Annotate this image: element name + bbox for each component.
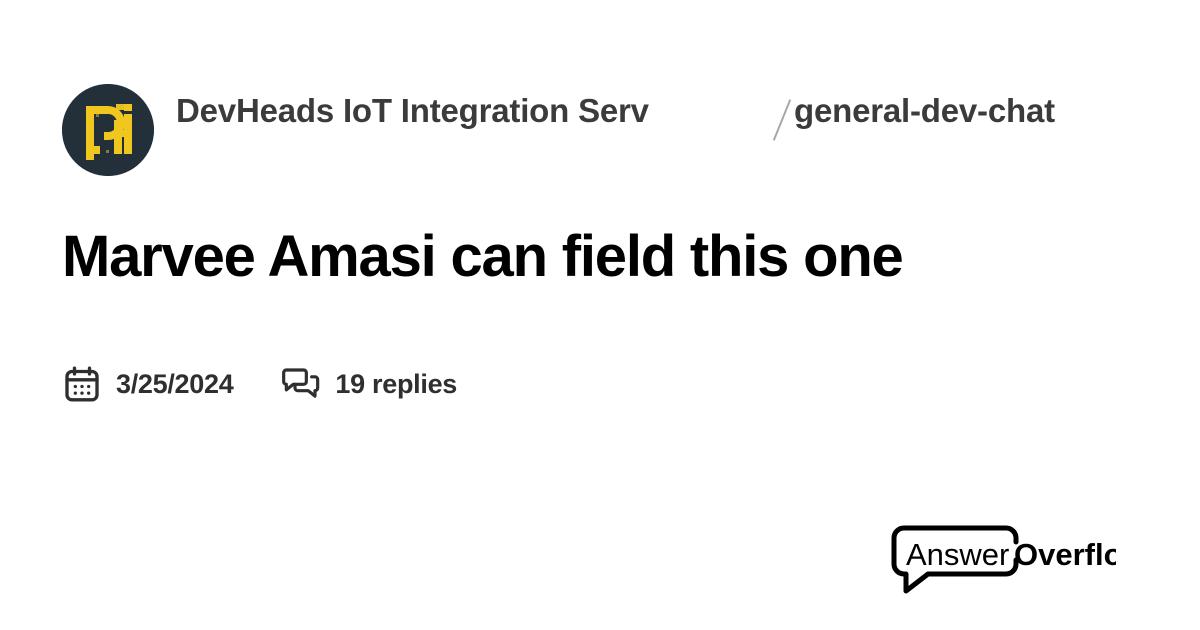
brand-word-answer: Answer: [906, 537, 1009, 572]
devheads-dh-monogram-icon: [62, 84, 154, 176]
thread-title: Marvee Amasi can field this one: [62, 222, 1142, 292]
card-header: DevHeads IoT Integration Serv general-de…: [62, 82, 1142, 176]
server-avatar[interactable]: [62, 84, 154, 176]
calendar-icon: [62, 364, 102, 404]
answer-overflow-brand[interactable]: Answer Overflow: [890, 524, 1116, 598]
thread-meta: 3/25/2024 19 replies: [62, 364, 457, 404]
message-replies-icon: [281, 364, 321, 404]
server-block[interactable]: DevHeads IoT Integration Serv: [62, 82, 772, 176]
channel-name: general-dev-chat: [794, 90, 1055, 132]
brand-word-overflow: Overflow: [1014, 537, 1116, 572]
date-value: 3/25/2024: [116, 369, 233, 400]
meta-replies: 19 replies: [281, 364, 457, 404]
replies-count: 19 replies: [335, 369, 457, 400]
breadcrumb-separator-icon: [772, 94, 794, 148]
meta-date: 3/25/2024: [62, 364, 233, 404]
answer-overflow-logo-icon: Answer Overflow: [890, 524, 1116, 598]
server-name: DevHeads IoT Integration Serv: [176, 82, 649, 132]
channel-block[interactable]: general-dev-chat: [772, 82, 1055, 148]
